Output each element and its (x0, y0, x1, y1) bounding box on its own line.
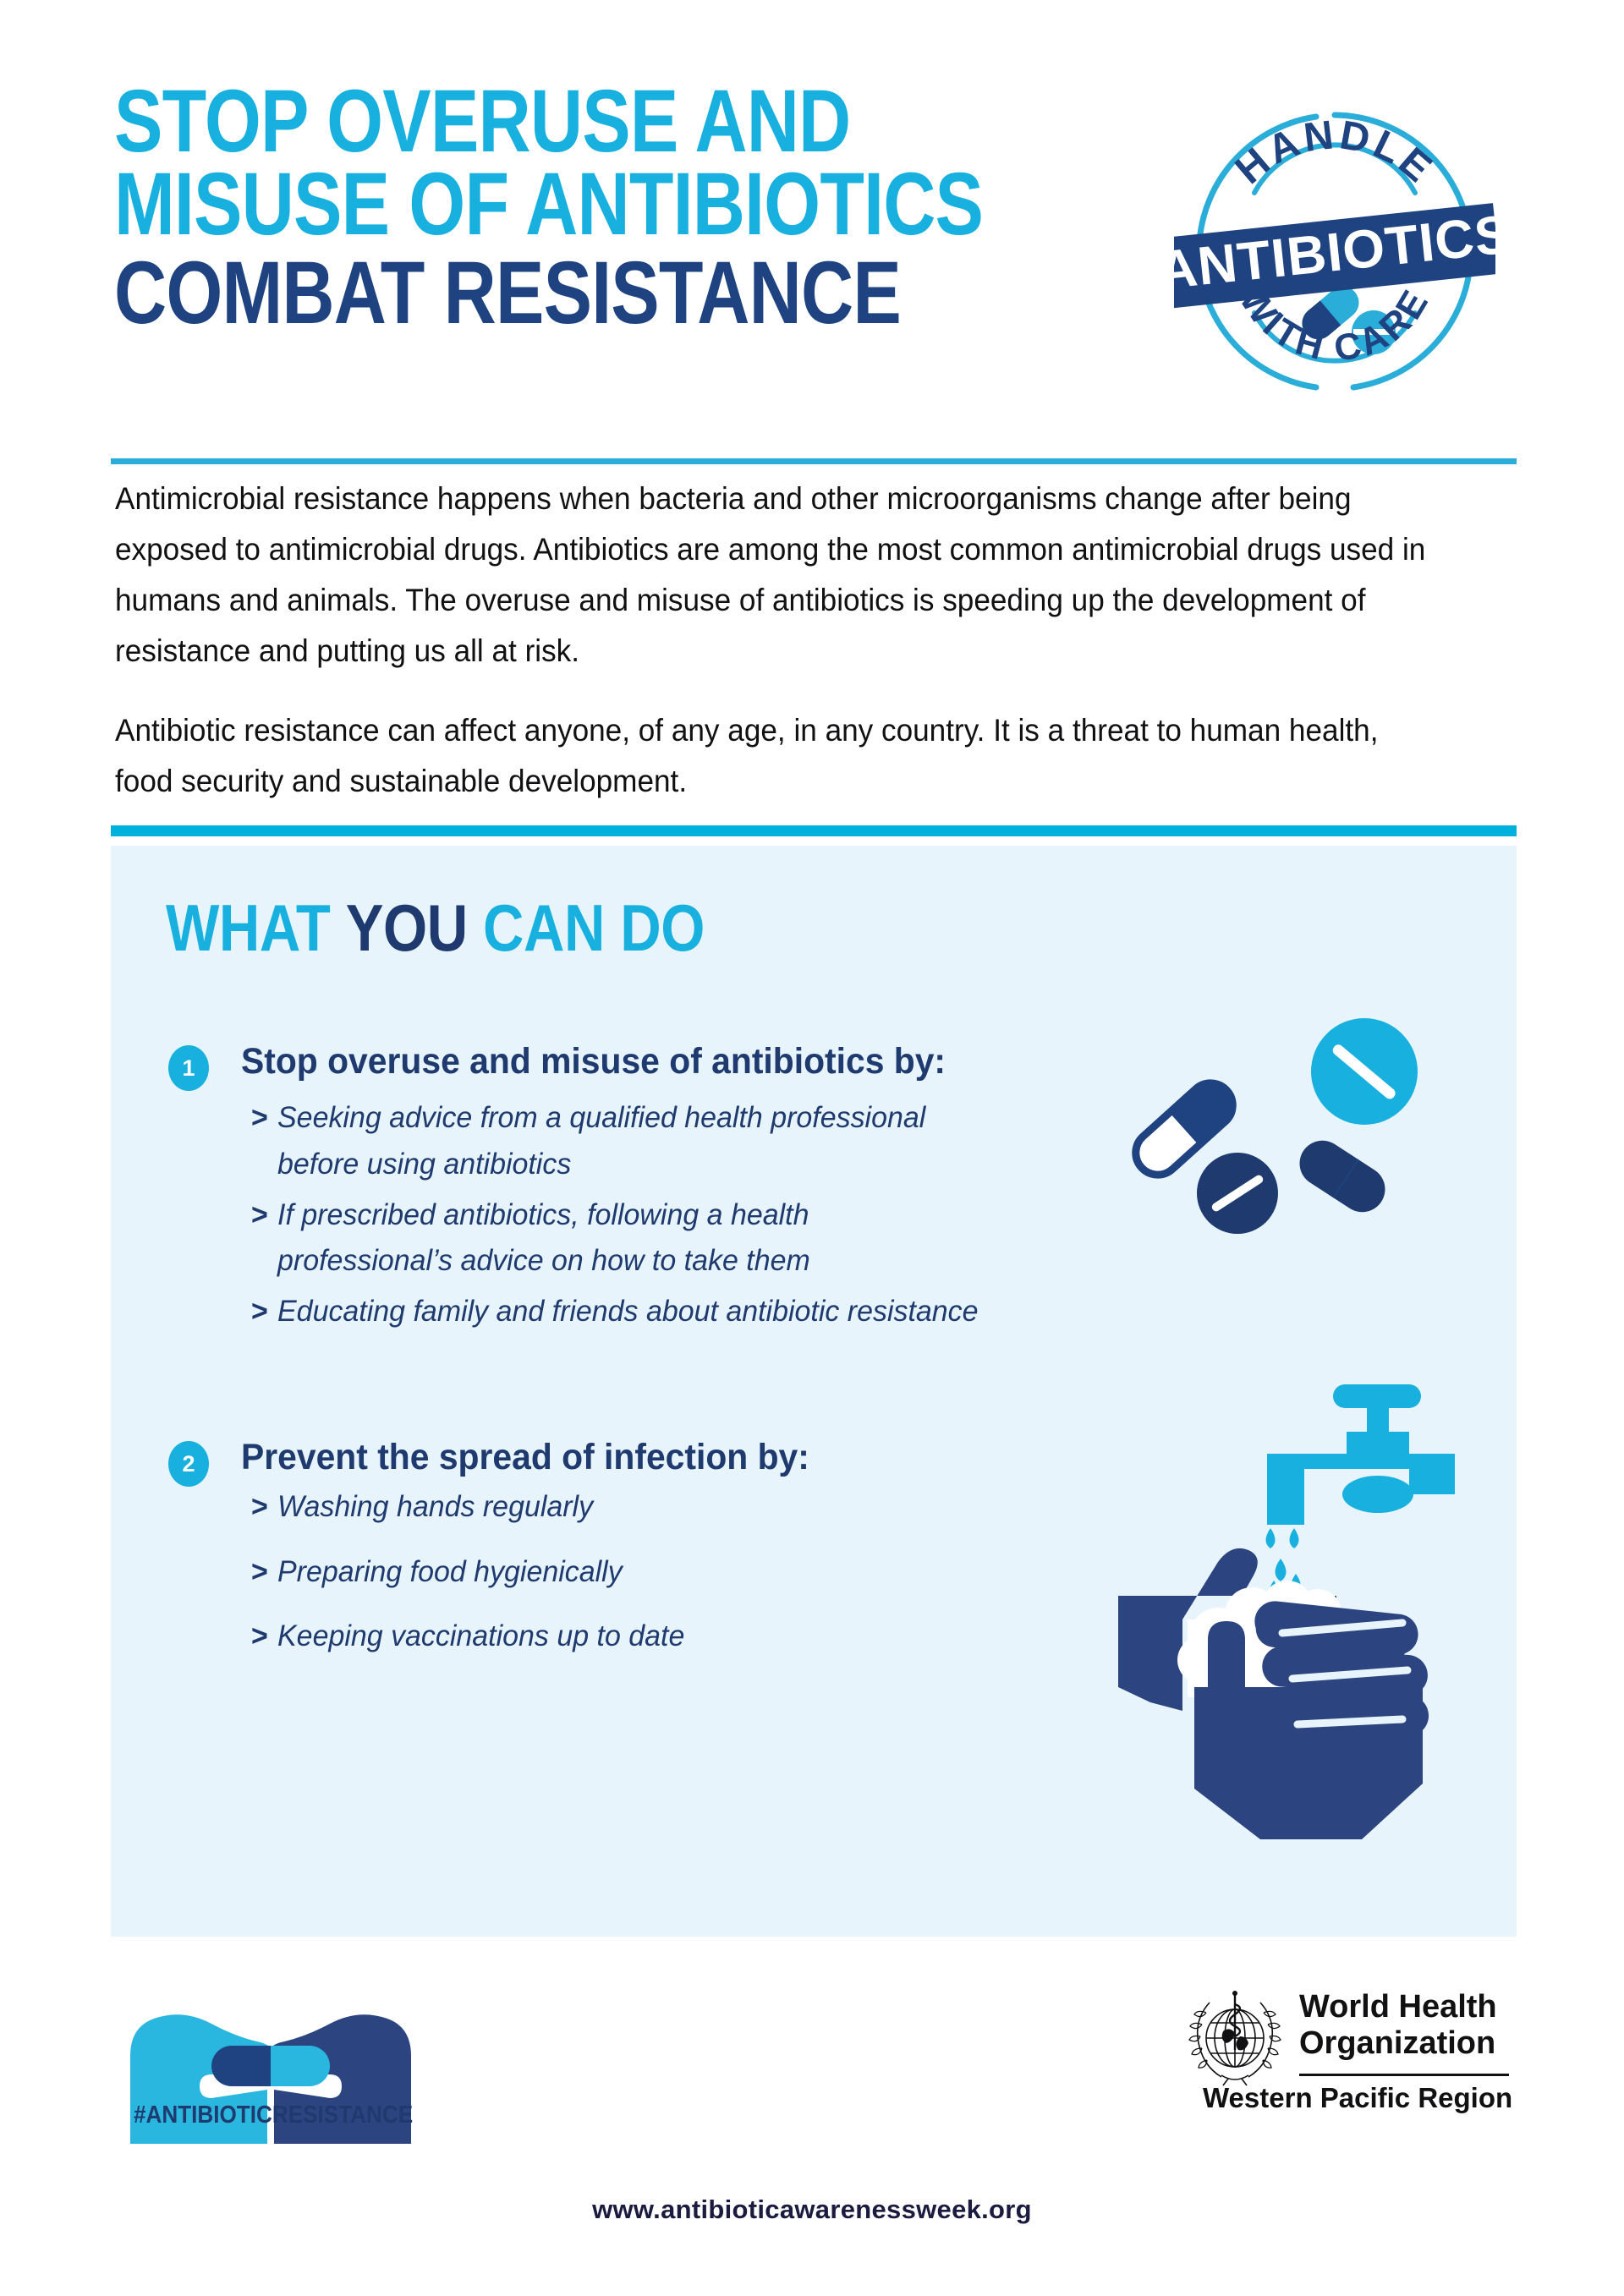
handwashing-illustration (1083, 1366, 1506, 1890)
chevron-right-icon: > (251, 1289, 268, 1334)
chevron-right-icon: > (251, 1192, 268, 1238)
capsule-navy-icon (1291, 1132, 1394, 1220)
bullet-text: If prescribed antibiotics, following a h… (277, 1198, 810, 1277)
intro-text: Antimicrobial resistance happens when ba… (115, 474, 1502, 836)
header-divider (111, 458, 1517, 464)
list-item: >Educating family and friends about anti… (251, 1289, 991, 1334)
who-name-line-2: Organization (1299, 2025, 1497, 2062)
panel-heading: WHAT YOU CAN DO (166, 895, 705, 961)
chevron-right-icon: > (251, 1095, 268, 1141)
chevron-right-icon: > (251, 1549, 268, 1595)
tablet-small-navy-icon (1197, 1153, 1278, 1234)
title-line-2: MISUSE OF ANTIBIOTICS (114, 163, 933, 246)
hashtag-label: #ANTIBIOTICRESISTANCE (134, 2101, 408, 2129)
bullet-text: Keeping vaccinations up to date (277, 1619, 684, 1652)
bullet-text: Washing hands regularly (277, 1490, 593, 1523)
panel-heading-word-1: WHAT (166, 890, 330, 965)
bullet-text: Educating family and friends about antib… (277, 1295, 978, 1328)
tablet-large-cyan-icon (1311, 1018, 1418, 1125)
list-item: >Washing hands regularly (251, 1484, 991, 1530)
badge-top-text: HANDLE (1227, 112, 1443, 193)
who-name: World Health Organization (1299, 1989, 1497, 2061)
list-item: >Seeking advice from a qualified health … (251, 1095, 991, 1187)
panel-top-divider (111, 825, 1517, 836)
chevron-right-icon: > (251, 1484, 268, 1530)
item-bullets-1: >Seeking advice from a qualified health … (251, 1095, 1014, 1334)
who-logo: World Health Organization Western Pacifi… (1184, 1987, 1514, 2140)
chevron-right-icon: > (251, 1614, 268, 1659)
item-number-badge-1: 1 (168, 1045, 209, 1091)
who-name-line-1: World Health (1299, 1989, 1497, 2025)
list-item: >Keeping vaccinations up to date (251, 1614, 991, 1659)
faucet-icon (1267, 1384, 1455, 1525)
poster-header: STOP OVERUSE AND MISUSE OF ANTIBIOTICS C… (0, 0, 1624, 448)
handle-antibiotics-with-care-badge: HANDLE WITH CARE ANTIBIOTICS (1174, 91, 1495, 413)
item-bullets-2: >Washing hands regularly >Preparing food… (251, 1484, 1014, 1659)
campaign-url[interactable]: www.antibioticawarenessweek.org (0, 2195, 1624, 2225)
list-item: >If prescribed antibiotics, following a … (251, 1192, 991, 1285)
who-region-label: Western Pacific Region (1203, 2082, 1512, 2114)
panel-heading-word-2: YOU (346, 890, 468, 965)
title-line-3: COMBAT RESISTANCE (114, 252, 933, 335)
action-item-1: 1 Stop overuse and misuse of antibiotics… (168, 1042, 1014, 1340)
poster-root: STOP OVERUSE AND MISUSE OF ANTIBIOTICS C… (0, 0, 1624, 2296)
who-emblem-icon (1184, 1987, 1286, 2089)
item-number-badge-2: 2 (168, 1441, 209, 1487)
title-line-1: STOP OVERUSE AND (114, 80, 933, 163)
item-heading-1: Stop overuse and misuse of antibiotics b… (241, 1042, 975, 1082)
panel-heading-word-3: CAN DO (483, 890, 705, 965)
who-divider (1299, 2074, 1509, 2076)
action-item-2: 2 Prevent the spread of infection by: >W… (168, 1438, 1014, 1678)
page-title: STOP OVERUSE AND MISUSE OF ANTIBIOTICS C… (114, 80, 1112, 335)
pills-illustration (1095, 1011, 1451, 1298)
item-heading-2: Prevent the spread of infection by: (241, 1438, 975, 1477)
intro-paragraph-2: Antibiotic resistance can affect anyone,… (115, 705, 1433, 807)
intro-paragraph-1: Antimicrobial resistance happens when ba… (115, 474, 1433, 677)
list-item: >Preparing food hygienically (251, 1549, 991, 1595)
capsule-icon (211, 2046, 330, 2086)
svg-text:HANDLE: HANDLE (1227, 112, 1443, 193)
bullet-text: Seeking advice from a qualified health p… (277, 1101, 925, 1180)
bullet-text: Preparing food hygienically (277, 1555, 623, 1588)
